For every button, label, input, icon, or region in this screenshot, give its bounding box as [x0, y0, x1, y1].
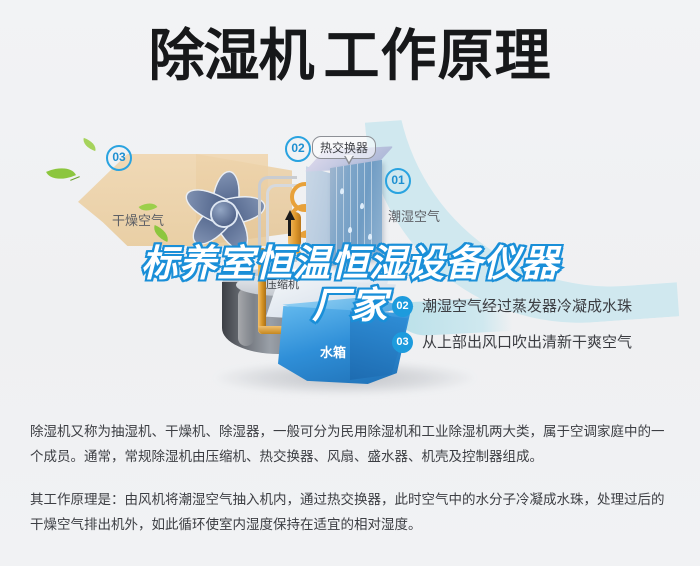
badge-02: 02 — [285, 136, 311, 162]
leaf-stem-icon — [70, 176, 80, 181]
paragraph-1: 除湿机又称为抽湿机、干燥机、除湿器，一般可分为民用除湿机和工业除湿机两大类，属于… — [30, 420, 674, 470]
legend-number: 02 — [392, 296, 413, 317]
leaf-icon — [81, 138, 98, 151]
legend-item: 02 潮湿空气经过蒸发器冷凝成水珠 — [392, 296, 692, 317]
body-text: 除湿机又称为抽湿机、干燥机、除湿器，一般可分为民用除湿机和工业除湿机两大类，属于… — [30, 420, 674, 538]
label-compressor: 压缩机 — [266, 276, 299, 292]
callout-tail-icon — [344, 156, 354, 165]
heat-exchanger-fins — [330, 160, 382, 266]
page-title: 除湿机工作原理 — [0, 26, 700, 88]
legend-number: 03 — [392, 332, 413, 353]
legend-text: 从上部出风口吹出清新干爽空气 — [422, 333, 632, 352]
leaf-icon — [46, 161, 76, 185]
drain-pipe — [258, 248, 266, 334]
page-title-part1: 除湿机 — [149, 24, 314, 89]
heat-exchanger-side — [306, 166, 332, 261]
label-humid-air: 潮湿空气 — [388, 210, 440, 226]
page-title-part2: 工作原理 — [324, 24, 552, 89]
legend-list: 02 潮湿空气经过蒸发器冷凝成水珠 03 从上部出风口吹出清新干爽空气 — [392, 296, 692, 368]
legend-item: 03 从上部出风口吹出清新干爽空气 — [392, 332, 692, 353]
label-water-tank: 水箱 — [320, 342, 346, 361]
label-dry-air: 干燥空气 — [112, 214, 164, 230]
infographic-page: 除湿机工作原理 — [0, 0, 700, 566]
legend-text: 潮湿空气经过蒸发器冷凝成水珠 — [422, 297, 632, 316]
badge-01: 01 — [385, 168, 411, 194]
badge-03: 03 — [106, 145, 132, 171]
paragraph-2: 其工作原理是：由风机将潮湿空气抽入机内，通过热交换器，此时空气中的水分子冷凝成水… — [30, 488, 674, 538]
